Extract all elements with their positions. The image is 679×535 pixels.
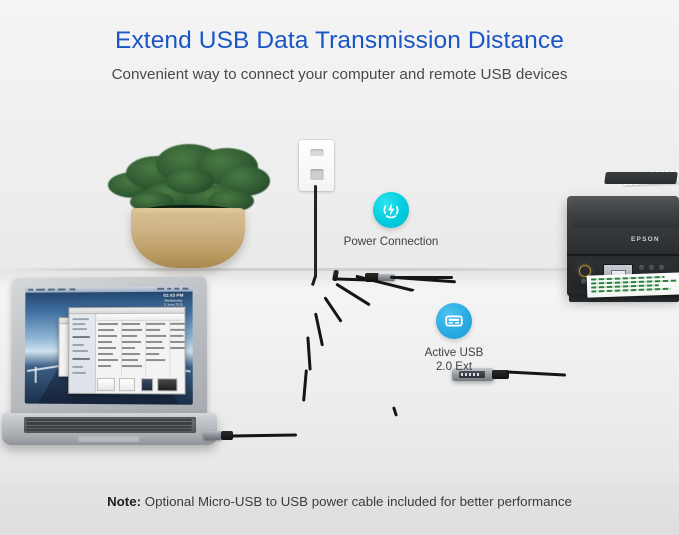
column-4 — [169, 321, 185, 378]
printer-button-3[interactable] — [659, 265, 664, 270]
desktop-clock-widget: 02:43 PM Wednesday 5 June 2019 — [158, 294, 188, 308]
power-bolt-icon — [373, 192, 409, 228]
column-2 — [121, 321, 146, 377]
header: Extend USB Data Transmission Distance Co… — [0, 0, 679, 84]
printer-seam — [567, 254, 679, 256]
callout-usb-label: Active USB 2.0 Ext — [385, 346, 523, 374]
printer-button-2[interactable] — [649, 265, 654, 270]
laptop-lid: 02:43 PM Wednesday 5 June 2019 — [11, 276, 207, 418]
note-prefix: Note: — [107, 494, 141, 509]
printer-scanner-lid — [573, 202, 679, 228]
page-title: Extend USB Data Transmission Distance — [0, 0, 679, 55]
window-thumbnails — [97, 378, 183, 391]
power-cord — [314, 185, 317, 278]
outlet-slot-lower — [310, 169, 323, 180]
outlet-slot-upper — [310, 149, 323, 156]
wallpaper-post-left — [35, 367, 37, 383]
callout-power-connection[interactable]: Power Connection — [322, 192, 460, 249]
product-scene: 02:43 PM Wednesday 5 June 2019 — [0, 100, 679, 485]
window-columns — [97, 321, 183, 378]
usb-port-icon — [436, 303, 472, 339]
laptop-base — [2, 413, 217, 445]
laptop[interactable]: 02:43 PM Wednesday 5 June 2019 — [2, 277, 217, 462]
column-1 — [97, 321, 122, 377]
laptop-screen: 02:43 PM Wednesday 5 June 2019 — [25, 287, 193, 405]
callout-power-label: Power Connection — [322, 235, 460, 249]
page-subtitle: Convenient way to connect your computer … — [0, 55, 679, 84]
window-sidebar[interactable] — [69, 314, 96, 393]
promo-image: Extend USB Data Transmission Distance Co… — [0, 0, 679, 535]
column-3 — [145, 321, 170, 377]
printer-paper-feed — [604, 172, 678, 184]
printer-home-button[interactable] — [581, 279, 586, 284]
footer-note: Note: Optional Micro-USB to USB power ca… — [0, 494, 679, 509]
note-text: Optional Micro-USB to USB power cable in… — [141, 494, 572, 509]
printer-printed-page — [587, 272, 679, 297]
printer-button-1[interactable] — [639, 265, 644, 270]
wall-outlet — [299, 140, 334, 191]
laptop-usb-connector — [203, 431, 223, 440]
laptop-trackpad[interactable] — [78, 435, 140, 442]
printer[interactable]: EPSON — [567, 172, 679, 300]
callout-active-usb[interactable]: Active USB 2.0 Ext — [385, 303, 523, 374]
plant-pot — [131, 208, 245, 268]
laptop-keyboard[interactable] — [24, 417, 196, 433]
printer-brand-label: EPSON — [631, 236, 660, 243]
file-manager-window[interactable] — [68, 307, 186, 395]
